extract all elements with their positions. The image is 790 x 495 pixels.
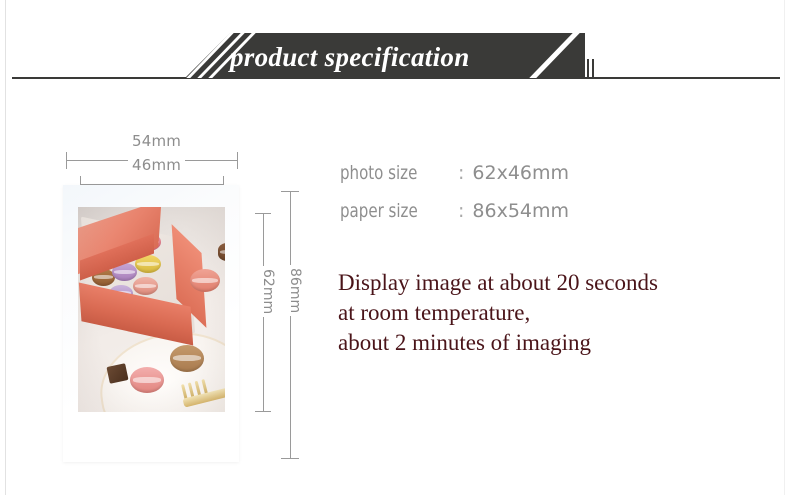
instant-photo-frame (63, 185, 239, 462)
spec-value-paper-size: 86x54mm (472, 200, 569, 222)
description-line-3: about 2 minutes of imaging (338, 328, 768, 358)
description-line-2: at room temperature, (338, 298, 768, 328)
spec-value-photo-size: 62x46mm (472, 162, 569, 184)
dimension-cap-outer-height-top (281, 191, 299, 192)
dimension-cap-inner-height-top (255, 213, 271, 214)
dimension-label-outer-width: 54mm (128, 132, 185, 150)
dimension-cap-outer-height-bottom (281, 458, 299, 459)
page-header: product specification (0, 0, 790, 100)
dimension-line-outer-height (290, 191, 291, 458)
page-title: product specification (230, 39, 560, 75)
description-line-1: Display image at about 20 seconds (338, 268, 768, 298)
description-block: Display image at about 20 seconds at roo… (338, 268, 768, 358)
dimension-label-inner-width: 46mm (128, 156, 185, 174)
spec-row-paper-size: paper size:86x54mm (340, 200, 569, 222)
product-specification-page: product specification 54mm 46mm (0, 0, 790, 495)
dimension-cap-inner-height-bottom (255, 411, 271, 412)
banner-bar-decoration-3 (592, 59, 594, 78)
spec-row-photo-size: photo size:62x46mm (340, 162, 569, 184)
scene-vignette (78, 207, 225, 412)
dimension-label-inner-height: 62mm (260, 266, 276, 317)
spec-label-paper-size: paper size (340, 200, 444, 222)
dimension-cap-outer-width-left (66, 152, 67, 169)
banner-bar-decoration-2 (587, 59, 589, 78)
macaron-photo (78, 207, 225, 412)
spec-label-photo-size: photo size (340, 162, 444, 184)
dimension-cap-outer-width-right (237, 152, 238, 169)
macaron-scene-illustration (78, 207, 225, 412)
dimension-label-outer-height: 86mm (287, 265, 303, 316)
spec-separator-paper-size: : (458, 200, 464, 222)
banner-bar-decoration-1 (579, 48, 582, 78)
spec-separator-photo-size: : (458, 162, 464, 184)
